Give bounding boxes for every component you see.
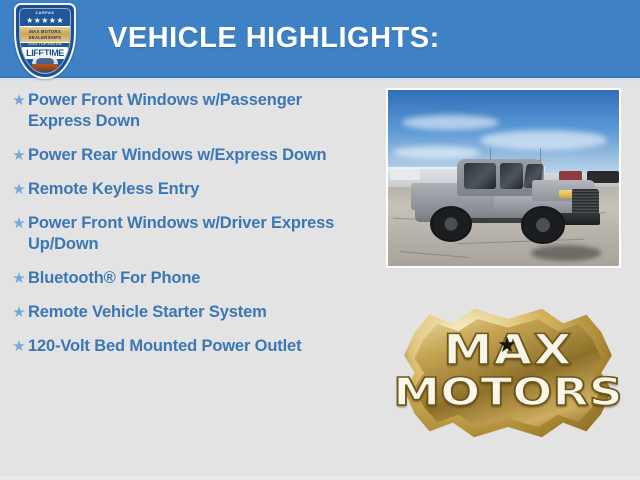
badge-award-year: 2023 TOP-RATED [20, 42, 70, 46]
pickup-truck [411, 153, 600, 241]
badge-dealership-band: MAX MOTORS DEALERSHIPS [20, 26, 70, 43]
list-item-label: 120-Volt Bed Mounted Power Outlet [28, 336, 301, 357]
list-item-label: Bluetooth® For Phone [28, 268, 200, 289]
truck-grille [572, 189, 599, 215]
logo-text-motors: MOTORS [377, 370, 640, 414]
list-item-label: Remote Keyless Entry [28, 179, 199, 200]
bottom-strip [0, 476, 640, 480]
truck-window [464, 163, 496, 189]
cloud-shape [480, 130, 607, 149]
header-underline [0, 78, 640, 82]
badge-shield-shape: CARFAX ★★★★★ MAX MOTORS DEALERSHIPS 2023… [14, 3, 76, 79]
vehicle-highlights-list: ★ Power Front Windows w/Passenger Expres… [10, 90, 380, 370]
list-item: ★ Bluetooth® For Phone [10, 268, 380, 289]
list-item-label: Power Rear Windows w/Express Down [28, 145, 326, 166]
truck-wheel [521, 206, 565, 243]
slide-canvas: CARFAX ★★★★★ MAX MOTORS DEALERSHIPS 2023… [0, 0, 640, 480]
truck-shadow [531, 245, 600, 261]
list-item: ★ 120-Volt Bed Mounted Power Outlet [10, 336, 380, 357]
star-bullet-icon: ★ [10, 179, 28, 200]
star-bullet-icon: ★ [10, 90, 28, 111]
list-item: ★ Remote Keyless Entry [10, 179, 380, 200]
truck-wheel [430, 206, 472, 242]
badge-car-icon [32, 55, 58, 71]
list-item-label: Remote Vehicle Starter System [28, 302, 267, 323]
list-item-label: Power Front Windows w/Driver Express Up/… [28, 213, 368, 255]
list-item: ★ Power Front Windows w/Driver Express U… [10, 213, 380, 255]
list-item: ★ Power Front Windows w/Passenger Expres… [10, 90, 380, 132]
list-item: ★ Remote Vehicle Starter System [10, 302, 380, 323]
vehicle-photo-image [388, 90, 619, 266]
max-motors-logo: MAX ★ MOTORS [402, 300, 614, 446]
star-bullet-icon: ★ [10, 145, 28, 166]
carfax-lifetime-dealer-badge: CARFAX ★★★★★ MAX MOTORS DEALERSHIPS 2023… [14, 3, 76, 79]
truck-window [500, 163, 523, 189]
star-bullet-icon: ★ [10, 302, 28, 323]
logo-star-icon: ★ [497, 334, 517, 356]
carfax-stars-icon: ★★★★★ [20, 16, 70, 25]
carfax-brand-label: CARFAX [20, 11, 70, 15]
badge-dealership-line2: DEALERSHIPS [29, 35, 62, 40]
list-item-label: Power Front Windows w/Passenger Express … [28, 90, 368, 132]
list-item: ★ Power Rear Windows w/Express Down [10, 145, 380, 166]
vehicle-photo [386, 88, 621, 268]
star-bullet-icon: ★ [10, 268, 28, 289]
star-bullet-icon: ★ [10, 213, 28, 234]
badge-inner: CARFAX ★★★★★ MAX MOTORS DEALERSHIPS 2023… [19, 8, 71, 74]
page-title: VEHICLE HIGHLIGHTS: [108, 22, 440, 55]
star-bullet-icon: ★ [10, 336, 28, 357]
